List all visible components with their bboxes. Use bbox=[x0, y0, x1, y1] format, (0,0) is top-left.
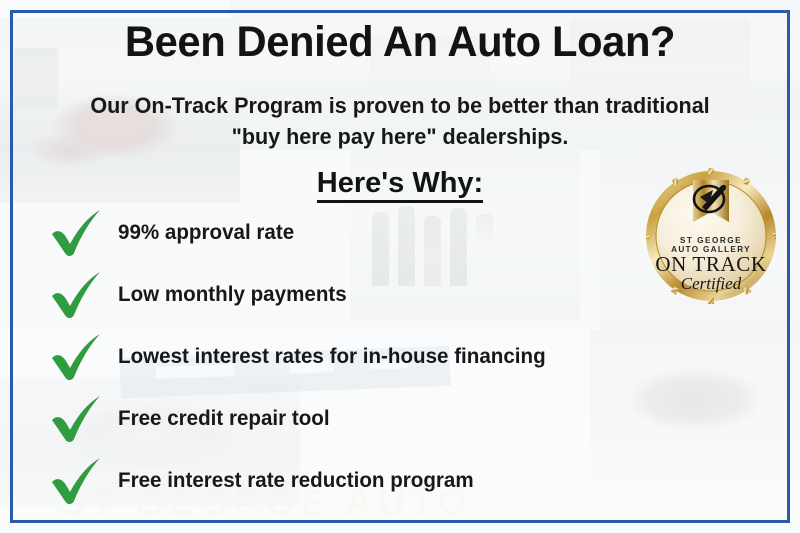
ad-content: Been Denied An Auto Loan? Our On-Track P… bbox=[0, 0, 800, 533]
badge-dealer-line1: ST GEORGE bbox=[680, 236, 742, 245]
green-checkmark-icon bbox=[48, 269, 104, 321]
list-item: 99% approval rate bbox=[48, 202, 648, 264]
list-item: Lowest interest rates for in-house finan… bbox=[48, 326, 648, 388]
list-item-label: 99% approval rate bbox=[118, 221, 294, 245]
green-checkmark-icon bbox=[48, 393, 104, 445]
green-checkmark-icon bbox=[48, 207, 104, 259]
list-item-label: Free interest rate reduction program bbox=[118, 469, 474, 493]
green-checkmark-icon bbox=[48, 455, 104, 507]
badge-program-label: ON TRACK bbox=[655, 252, 766, 276]
list-item-label: Low monthly payments bbox=[118, 283, 347, 307]
list-item: Free credit repair tool bbox=[48, 388, 648, 450]
list-item: Free interest rate reduction program bbox=[48, 450, 648, 512]
list-item: Low monthly payments bbox=[48, 264, 648, 326]
list-item-label: Free credit repair tool bbox=[118, 407, 330, 431]
list-item-label: Lowest interest rates for in-house finan… bbox=[118, 345, 546, 369]
section-heading-label: Here's Why: bbox=[317, 167, 483, 203]
page-title: Been Denied An Auto Loan? bbox=[37, 20, 763, 66]
subheading: Our On-Track Program is proven to be bet… bbox=[67, 90, 733, 152]
on-track-certified-badge: ST GEORGE AUTO GALLERY ON TRACK Certifie… bbox=[645, 166, 777, 306]
green-checkmark-icon bbox=[48, 331, 104, 383]
badge-certified-label: Certified bbox=[681, 274, 742, 293]
benefits-list: 99% approval rate Low monthly payments L… bbox=[48, 202, 648, 512]
auto-loan-advertisement: ST GEORGE AUTO Been Denied An Auto Loan?… bbox=[0, 0, 800, 533]
